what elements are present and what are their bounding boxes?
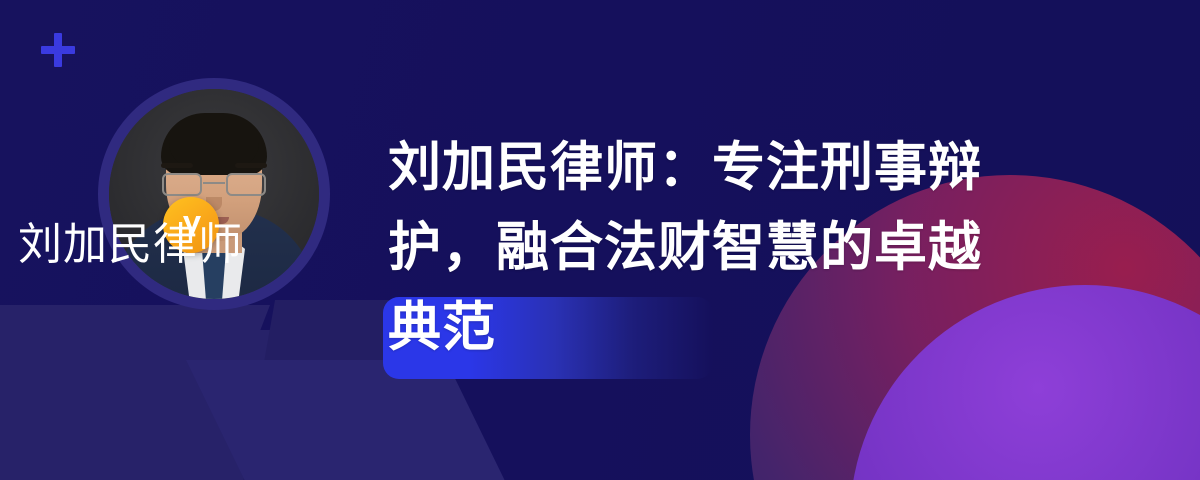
headline-block: 刘加民律师：专注刑事辩 护，融合法财智慧的卓越 典范 bbox=[388, 128, 1178, 368]
profile-banner: 刘加民律师 刘加民律师：专注刑事辩 护，融合法财智慧的卓越 典范 bbox=[0, 0, 1200, 480]
page-title: 刘加民律师：专注刑事辩 护，融合法财智慧的卓越 典范 bbox=[388, 128, 1178, 368]
